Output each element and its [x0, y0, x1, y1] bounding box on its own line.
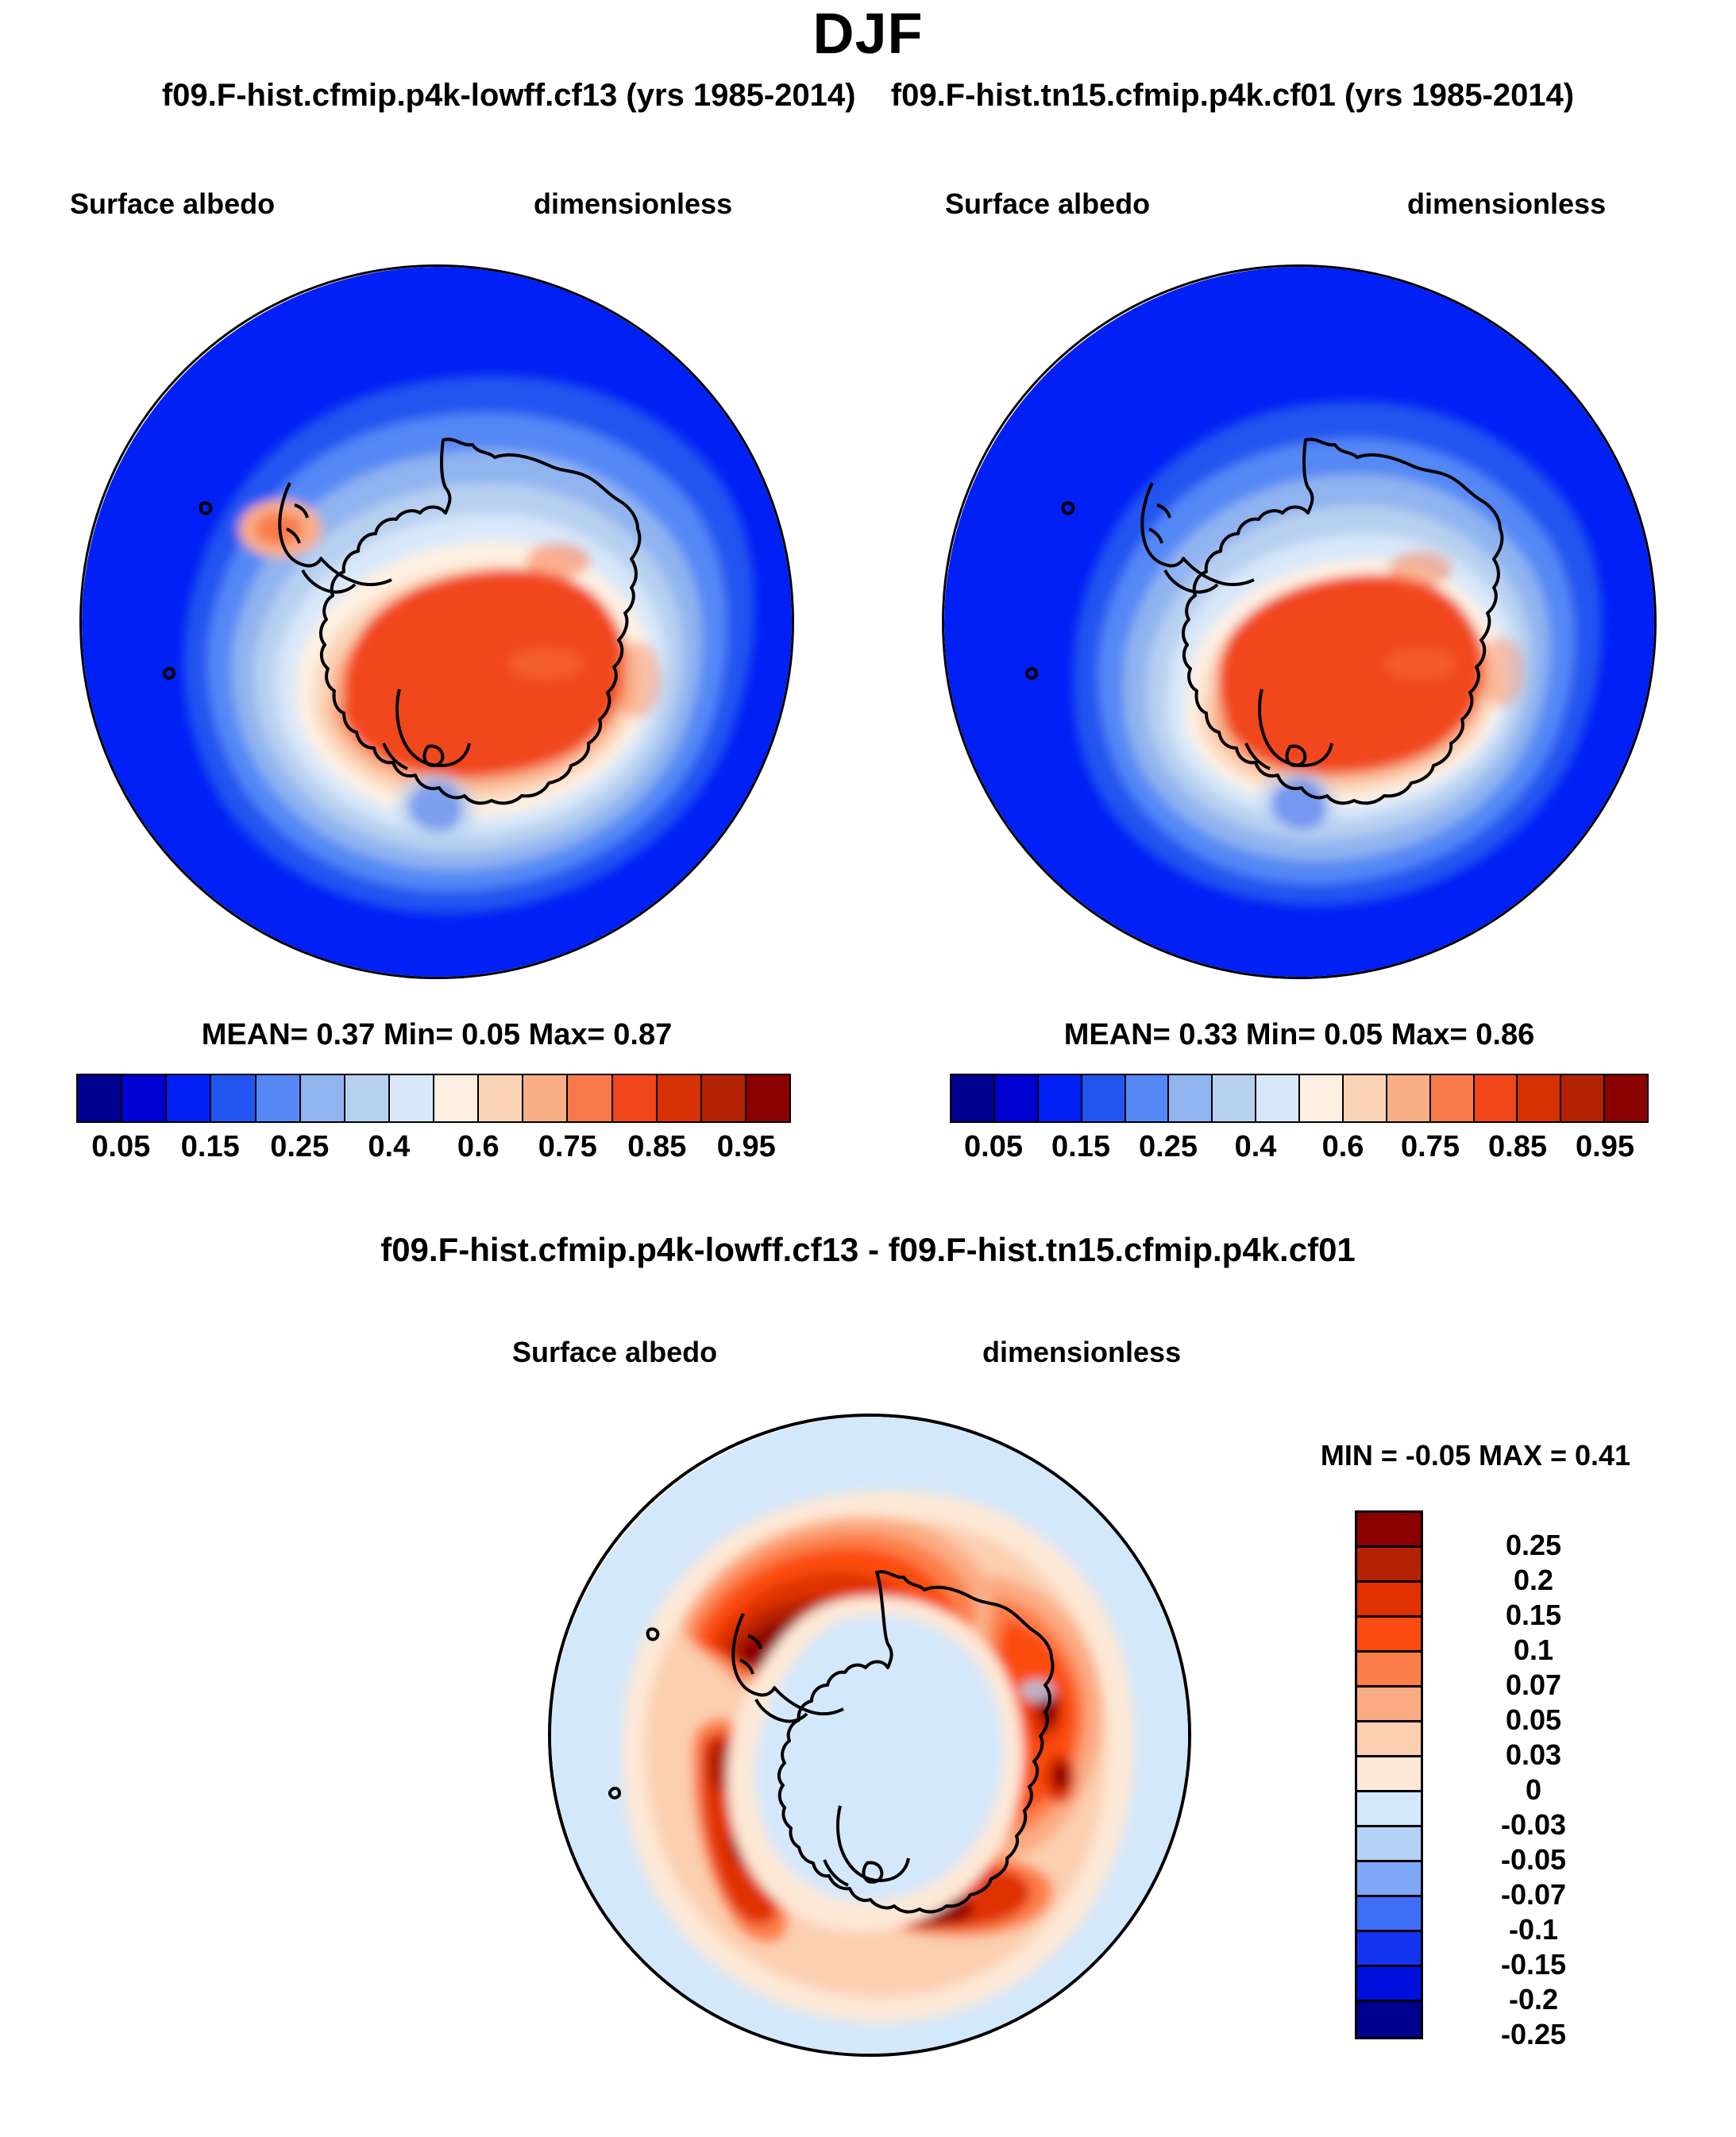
colorbar-left-ticks: 0.050.150.250.40.60.750.850.95: [76, 1126, 791, 1167]
colorbar-tick-label: 0.95: [1561, 1126, 1649, 1167]
diff-colorbar-tick-label: 0.03: [1442, 1739, 1625, 1771]
map-left-svg: [82, 267, 794, 979]
map-diff-fields: [551, 1417, 1191, 2057]
case-header-left: f09.F-hist.cfmip.p4k-lowff.cf13 (yrs 198…: [162, 78, 856, 114]
colorbar-cell: [995, 1075, 1039, 1121]
colorbar-cell: [951, 1075, 995, 1121]
diff-colorbar-cell: [1357, 1862, 1421, 1897]
antarctic-map-right[interactable]: [942, 264, 1657, 979]
colorbar-tick-label: 0.6: [434, 1126, 523, 1167]
colorbar-tick-label: 0.85: [612, 1126, 702, 1167]
colorbar-right[interactable]: [950, 1074, 1649, 1123]
colorbar-tick-label: 0.85: [1474, 1126, 1561, 1167]
colorbar-cell: [1126, 1075, 1170, 1121]
diff-colorbar-tick-label: -0.05: [1442, 1844, 1625, 1876]
panel-left-variable-label: Surface albedo: [70, 187, 275, 221]
diff-units-label: dimensionless: [982, 1336, 1181, 1369]
colorbar-right-ticks: 0.050.150.250.40.60.750.850.95: [950, 1126, 1649, 1167]
diff-colorbar-tick-label: 0.25: [1442, 1529, 1625, 1561]
map-diff-svg: [551, 1417, 1191, 2057]
case-header-right: f09.F-hist.tn15.cfmip.p4k.cf01 (yrs 1985…: [891, 78, 1574, 114]
colorbar-tick-label: 0.75: [523, 1126, 613, 1167]
colorbar-cell: [1605, 1075, 1647, 1121]
colorbar-cell: [1300, 1075, 1344, 1121]
diff-colorbar-cell: [1357, 1618, 1421, 1653]
diff-colorbar-cell: [1357, 1967, 1421, 2002]
colorbar-cell: [1518, 1075, 1561, 1121]
diff-colorbar-cell: [1357, 1548, 1421, 1583]
colorbar-cell: [301, 1075, 345, 1121]
colorbar-tick-label: 0.15: [1037, 1126, 1125, 1167]
colorbar-cell: [702, 1075, 746, 1121]
colorbar-cell: [523, 1075, 568, 1121]
diff-colorbar-cell: [1357, 1688, 1421, 1722]
case-headers: f09.F-hist.cfmip.p4k-lowff.cf13 (yrs 198…: [0, 78, 1736, 114]
diff-colorbar-tick-label: -0.25: [1442, 2019, 1625, 2050]
colorbar-cell: [211, 1075, 256, 1121]
diff-colorbar-cell: [1357, 1792, 1421, 1827]
antarctic-map-left[interactable]: [79, 264, 794, 979]
diff-colorbar-tick-label: 0: [1442, 1774, 1625, 1806]
colorbar-cell: [167, 1075, 211, 1121]
diff-colorbar-tick-label: 0.15: [1442, 1599, 1625, 1631]
antarctic-map-difference[interactable]: [548, 1414, 1191, 2057]
colorbar-cell: [746, 1075, 789, 1121]
diff-variable-label: Surface albedo: [512, 1336, 717, 1369]
colorbar-cell: [1387, 1075, 1431, 1121]
diff-colorbar-tick-label: -0.03: [1442, 1809, 1625, 1841]
diff-colorbar-cell: [1357, 1722, 1421, 1757]
map-left-fields: [82, 267, 794, 979]
colorbar-cell: [1169, 1075, 1213, 1121]
diff-colorbar-tick-label: 0.05: [1442, 1704, 1625, 1736]
diff-colorbar-cell: [1357, 1757, 1421, 1792]
colorbar-cell: [1213, 1075, 1256, 1121]
colorbar-cell: [1039, 1075, 1082, 1121]
colorbar-cell: [345, 1075, 390, 1121]
colorbar-cell: [1561, 1075, 1605, 1121]
diff-colorbar-cell: [1357, 1932, 1421, 1967]
panel-left-units-label: dimensionless: [534, 187, 732, 221]
colorbar-tick-label: 0.25: [255, 1126, 345, 1167]
diff-colorbar-cell: [1357, 1653, 1421, 1688]
colorbar-tick-label: 0.75: [1387, 1126, 1474, 1167]
colorbar-cell: [1475, 1075, 1518, 1121]
diff-colorbar-tick-label: -0.07: [1442, 1879, 1625, 1911]
colorbar-cell: [122, 1075, 167, 1121]
diff-colorbar-tick-label: -0.15: [1442, 1949, 1625, 1981]
colorbar-tick-label: 0.05: [76, 1126, 166, 1167]
diff-panel-title: f09.F-hist.cfmip.p4k-lowff.cf13 - f09.F-…: [0, 1231, 1736, 1269]
diff-colorbar-cell: [1357, 1513, 1421, 1548]
colorbar-tick-label: 0.15: [166, 1126, 256, 1167]
map-right-svg: [944, 267, 1657, 979]
colorbar-left[interactable]: [76, 1074, 791, 1123]
diff-colorbar-cell: [1357, 1827, 1421, 1862]
panel-right-units-label: dimensionless: [1407, 187, 1606, 221]
colorbar-cell: [1344, 1075, 1387, 1121]
colorbar-tick-label: 0.4: [1212, 1126, 1299, 1167]
panel-right-variable-label: Surface albedo: [945, 187, 1150, 221]
page-title: DJF: [0, 2, 1736, 67]
diff-colorbar-tick-label: 0.07: [1442, 1669, 1625, 1701]
colorbar-cell: [257, 1075, 301, 1121]
colorbar-cell: [1431, 1075, 1475, 1121]
colorbar-cell: [78, 1075, 122, 1121]
colorbar-cell: [434, 1075, 479, 1121]
map-right-fields: [944, 267, 1657, 979]
colorbar-cell: [1082, 1075, 1126, 1121]
colorbar-tick-label: 0.25: [1125, 1126, 1212, 1167]
diff-minmax-text: MIN = -0.05 MAX = 0.41: [1229, 1439, 1722, 1472]
colorbar-cell: [1256, 1075, 1300, 1121]
diff-colorbar-cell: [1357, 2002, 1421, 2037]
colorbar-tick-label: 0.05: [950, 1126, 1037, 1167]
diff-colorbar-wrapper: 0.250.20.150.10.070.050.030-0.03-0.05-0.…: [1355, 1510, 1423, 2039]
colorbar-cell: [390, 1075, 434, 1121]
colorbar-cell: [479, 1075, 523, 1121]
diff-colorbar[interactable]: [1355, 1510, 1423, 2039]
colorbar-tick-label: 0.6: [1299, 1126, 1387, 1167]
stats-left: MEAN= 0.37 Min= 0.05 Max= 0.87: [71, 1018, 802, 1052]
colorbar-tick-label: 0.95: [702, 1126, 792, 1167]
colorbar-cell: [658, 1075, 702, 1121]
diff-colorbar-tick-label: -0.1: [1442, 1914, 1625, 1946]
stats-right: MEAN= 0.33 Min= 0.05 Max= 0.86: [942, 1018, 1657, 1052]
colorbar-tick-label: 0.4: [345, 1126, 434, 1167]
colorbar-cell: [613, 1075, 658, 1121]
colorbar-cell: [568, 1075, 612, 1121]
diff-colorbar-tick-label: -0.2: [1442, 1984, 1625, 2015]
diff-colorbar-cell: [1357, 1897, 1421, 1932]
diff-colorbar-tick-label: 0.2: [1442, 1564, 1625, 1596]
diff-colorbar-cell: [1357, 1583, 1421, 1618]
header-spacer: [865, 78, 882, 114]
diff-colorbar-tick-label: 0.1: [1442, 1634, 1625, 1666]
